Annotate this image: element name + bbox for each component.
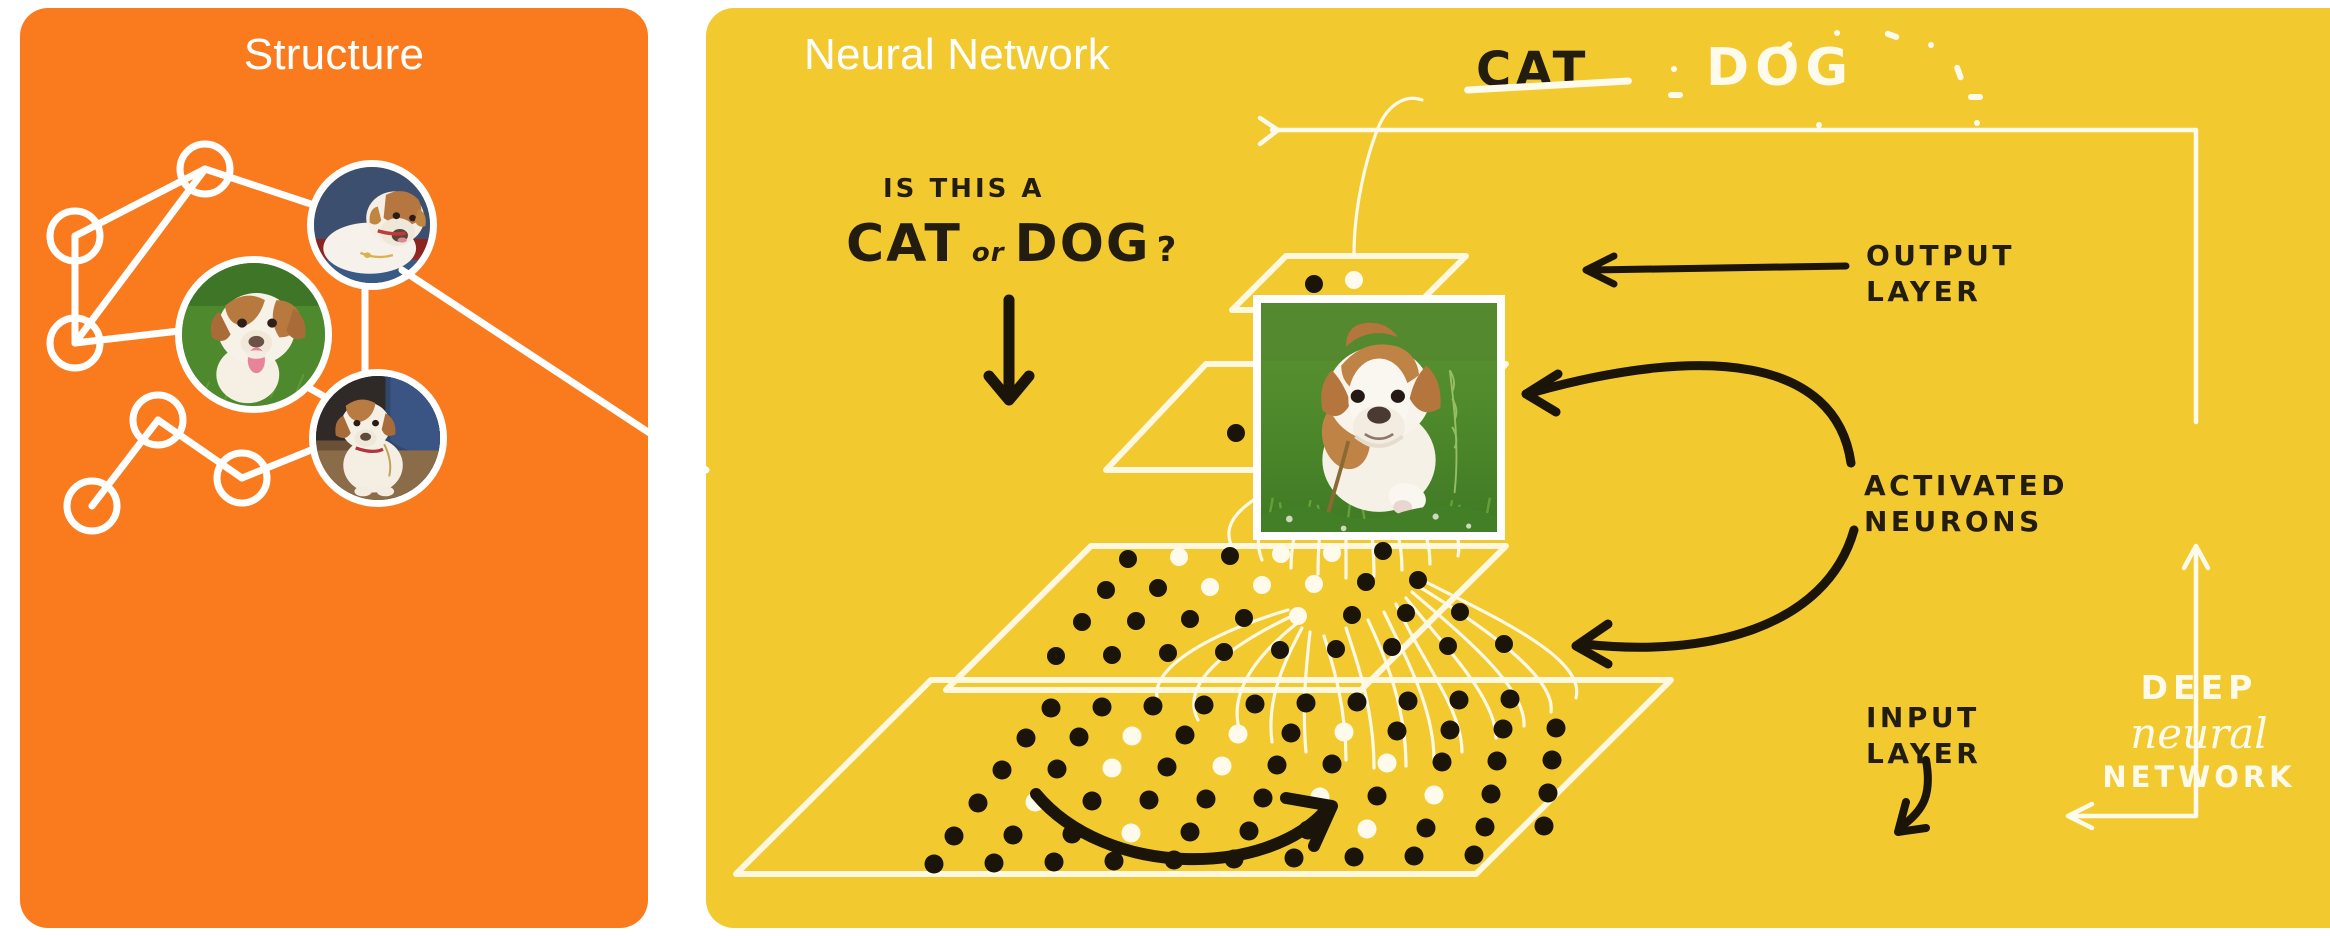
structure-panel: Structure [20,8,648,928]
bulldog-puppy-sitting-image [316,376,440,500]
caption-neural-word: neural [2099,709,2299,758]
output-layer-label: OUTPUT LAYER [1866,238,2015,310]
graph-photo-node-bulldog-in-grass[interactable] [175,256,332,413]
sparkle-group [1668,30,1983,128]
deep-neural-network-caption: DEEP neural NETWORK [2099,668,2299,794]
neural-network-diagram [706,8,2330,928]
question-down-arrow [989,300,1029,400]
structure-panel-title: Structure [20,30,648,80]
output-layer-label-line2: LAYER [1866,274,2015,310]
activated-neurons-label-line1: ACTIVATED [1864,468,2068,504]
activated-neurons-label: ACTIVATED NEURONS [1864,468,2068,540]
bulldog-on-rug-image [314,167,430,283]
caption-deep-word: DEEP [2099,668,2299,707]
graph-photo-node-bulldog-puppy-sitting[interactable] [309,369,447,507]
output-layer-pointer-arrow [1586,256,1846,284]
output-layer-label-line1: OUTPUT [1866,238,2015,274]
input-layer-neurons [925,690,1566,874]
input-layer-label-line2: LAYER [1866,736,1981,772]
activated-neurons-arrow-upper [1526,366,1851,463]
input-layer-label-line1: INPUT [1866,700,1981,736]
activated-neurons-label-line2: NEURONS [1864,504,2068,540]
output-layer-neurons [1305,271,1363,293]
bulldog-puppy-walking-image [1261,303,1497,532]
activated-neurons-arrow-lower [1576,530,1854,664]
caption-network-word: NETWORK [2099,760,2299,794]
bulldog-in-grass-image [182,263,325,406]
input-layer-label: INPUT LAYER [1866,700,1981,772]
neural-network-panel: Neural Network IS THIS A CATorDOG? CAT D… [706,8,2330,928]
graph-photo-node-bulldog-on-rug[interactable] [307,160,437,290]
illustration-root: Structure Neural Network IS THIS A CATor… [0,0,2330,936]
input-photo[interactable] [1261,303,1497,532]
